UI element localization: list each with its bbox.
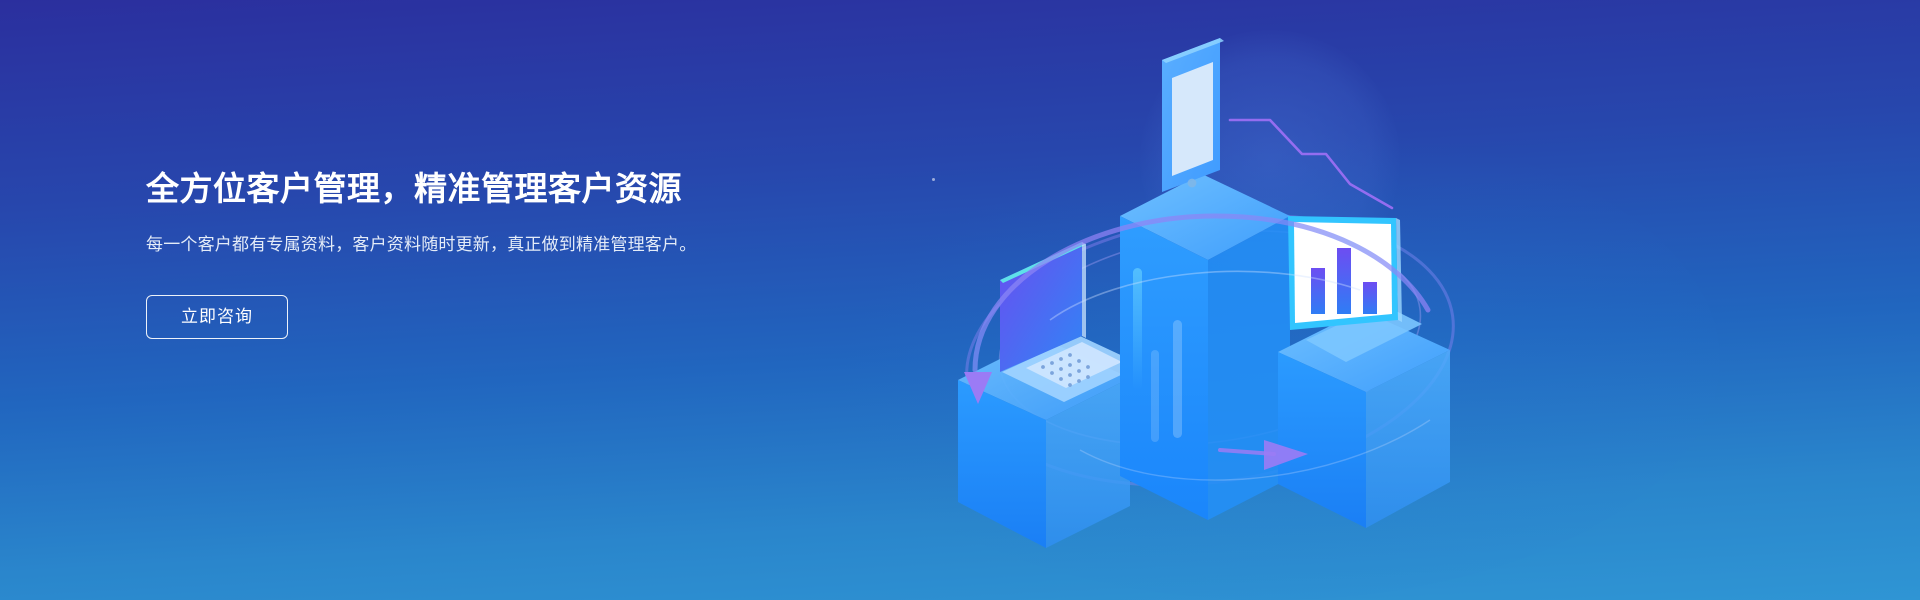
- tablet-icon: [1162, 38, 1224, 192]
- connector-line: [1230, 120, 1392, 208]
- hero-banner: 全方位客户管理，精准管理客户资源 每一个客户都有专属资料，客户资料随时更新，真正…: [0, 0, 1920, 600]
- consult-now-button[interactable]: 立即咨询: [146, 295, 288, 339]
- hero-copy: 全方位客户管理，精准管理客户资源 每一个客户都有专属资料，客户资料随时更新，真正…: [146, 168, 786, 339]
- page-title: 全方位客户管理，精准管理客户资源: [146, 168, 786, 209]
- hero-illustration: [930, 20, 1490, 580]
- hero-subtitle: 每一个客户都有专属资料，客户资料随时更新，真正做到精准管理客户。: [146, 231, 746, 259]
